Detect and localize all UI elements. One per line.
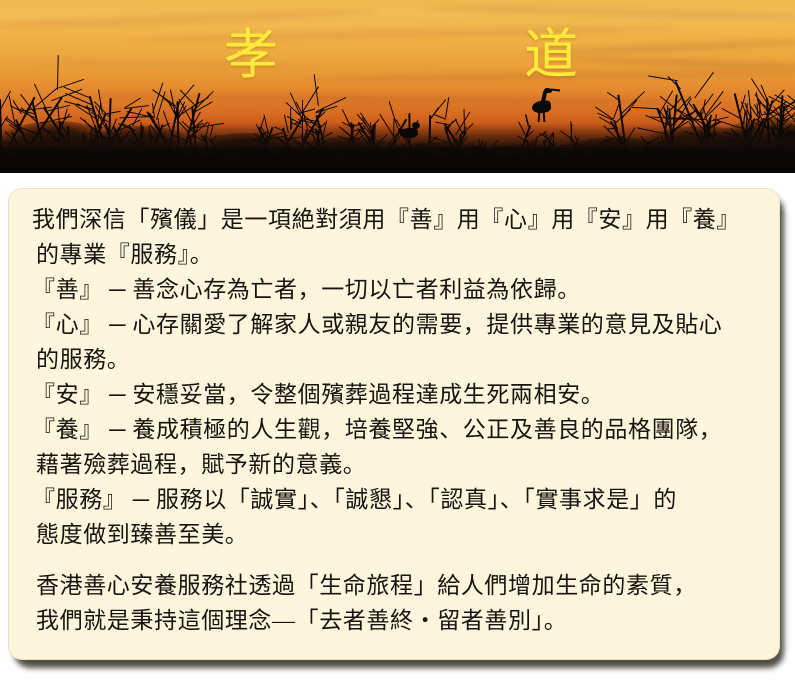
card-text-line: 『心』 ─ 心存關愛了解家人或親友的需要，提供專業的意見及貼心 — [32, 307, 758, 342]
card-text-line: 『養』 ─ 養成積極的人生觀，培養堅強、公正及善良的品格團隊， — [32, 412, 758, 447]
hero-banner: 孝 道 — [0, 0, 795, 173]
card-text-line: 的專業『服務』。 — [32, 237, 758, 272]
title-character-xiao: 孝 — [224, 28, 278, 82]
card-text-line: 態度做到臻善至美。 — [32, 517, 758, 552]
card-text-line: 我們深信「殯儀」是一項絶對須用『善』用『心』用『安』用『養』 — [32, 202, 758, 237]
ground-band — [0, 147, 795, 173]
card-text-line: 香港善心安養服務社透過「生命旅程」給人們增加生命的素質， — [32, 568, 758, 603]
card-text-line: 的服務。 — [32, 342, 758, 377]
heron-silhouette-icon — [528, 88, 562, 122]
card-text-line: 藉著殮葬過程，賦予新的意義。 — [32, 447, 758, 482]
card-text-line: 『善』 ─ 善念心存為亡者，一切以亡者利益為依歸。 — [32, 272, 758, 307]
page-root: 孝 道 我們深信「殯儀」是一項絶對須用『善』用『心』用『安』用『養』的專業『服務… — [0, 0, 795, 680]
card-text-body: 我們深信「殯儀」是一項絶對須用『善』用『心』用『安』用『養』的專業『服務』。『善… — [8, 188, 780, 648]
card-text-line: 『服務』 ─ 服務以「誠實」、「誠懇」、「認真」、「實事求是」的 — [32, 482, 758, 517]
bird-silhouette-icon — [398, 120, 424, 142]
content-card: 我們深信「殯儀」是一項絶對須用『善』用『心』用『安』用『養』的專業『服務』。『善… — [8, 188, 780, 660]
title-character-dao: 道 — [524, 28, 578, 82]
card-text-line: 我們就是秉持這個理念—「去者善終・留者善別」。 — [32, 603, 758, 638]
card-text-line: 『安』 ─ 安穩妥當，令整個殯葬過程達成生死兩相安。 — [32, 377, 758, 412]
